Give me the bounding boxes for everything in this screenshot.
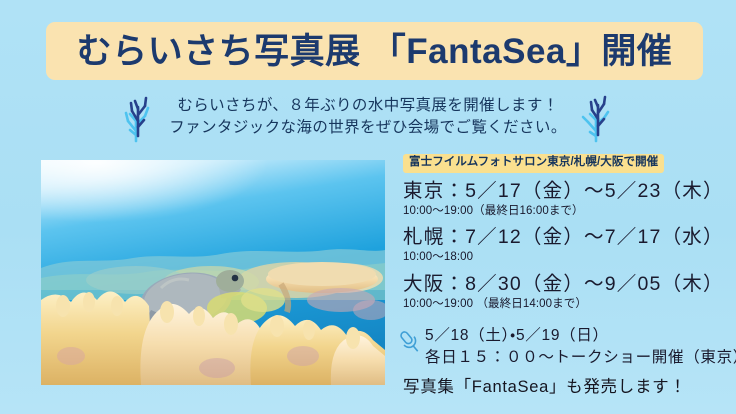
schedule-osaka: 大阪：8／30（金）〜9／05（木） 10:00〜19:00 （最終日14:00… xyxy=(403,273,728,313)
subtitle-block: むらいさちが、８年ぶりの水中写真展を開催します！ ファンタジックな海の世界をぜひ… xyxy=(0,88,736,146)
subtitle-line-2: ファンタジックな海の世界をぜひ会場でご覧ください。 xyxy=(169,117,567,139)
schedule-hours-line: 10:00〜18:00 xyxy=(403,250,728,266)
poster-canvas: むらいさち写真展 「FantaSea」開催 xyxy=(0,0,736,414)
talk-show-dates: 5／18（土）・5／19（日） xyxy=(425,325,728,347)
schedule-city-line: 大阪：8／30（金）〜9／05（木） xyxy=(403,273,728,296)
schedule-tokyo: 東京：5／17（金）〜5／23（木） 10:00〜19:00（最終日16:00ま… xyxy=(403,180,728,220)
schedule-hours-line: 10:00〜19:00 （最終日14:00まで） xyxy=(403,297,728,313)
venue-tag: 富士フイルムフォトサロン東京/札幌/大阪で開催 xyxy=(403,154,664,173)
schedule-sapporo: 札幌：7／12（金）〜7／17（水） 10:00〜18:00 xyxy=(403,226,728,266)
subtitle-line-1: むらいさちが、８年ぶりの水中写真展を開催します！ xyxy=(169,95,567,117)
title-banner: むらいさち写真展 「FantaSea」開催 xyxy=(46,22,703,80)
info-column: 富士フイルムフォトサロン東京/札幌/大阪で開催 東京：5／17（金）〜5／23（… xyxy=(403,152,728,398)
underwater-photo xyxy=(41,160,385,385)
schedule-hours-line: 10:00〜19:00（最終日16:00まで） xyxy=(403,204,728,220)
talk-show-block: 5／18（土）・5／19（日） 各日１５：００〜トークショー開催（東京） xyxy=(403,325,728,369)
schedule-city-line: 札幌：7／12（金）〜7／17（水） xyxy=(403,226,728,249)
talk-show-detail: 各日１５：００〜トークショー開催（東京） xyxy=(425,347,728,369)
page-title: むらいさち写真展 「FantaSea」開催 xyxy=(77,34,673,69)
coral-icon-right xyxy=(579,91,613,143)
microphone-icon xyxy=(395,327,425,357)
schedule-city-line: 東京：5／17（金）〜5／23（木） xyxy=(403,180,728,203)
photobook-announcement: 写真集「FantaSea」も発売します！ xyxy=(403,377,728,398)
coral-icon-left xyxy=(123,91,157,143)
subtitle-text: むらいさちが、８年ぶりの水中写真展を開催します！ ファンタジックな海の世界をぜひ… xyxy=(169,95,567,140)
